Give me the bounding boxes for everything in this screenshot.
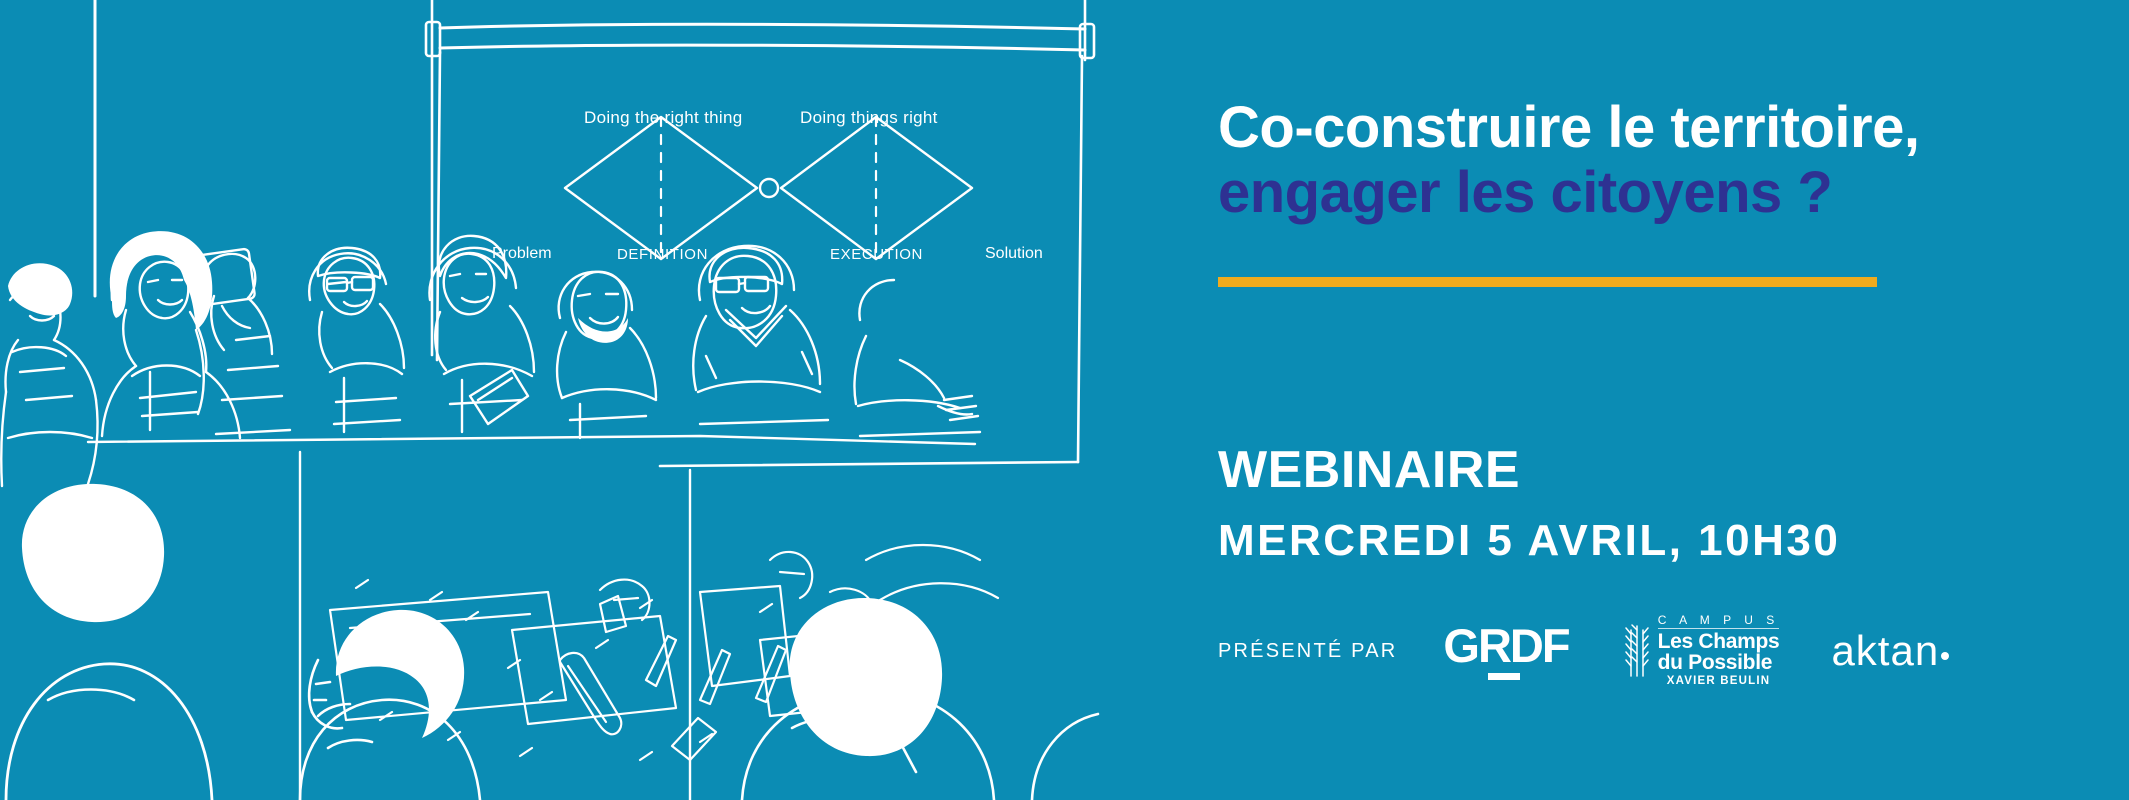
campus-line-4: XAVIER BEULIN (1658, 676, 1780, 688)
event-type-label: WEBINAIRE (1218, 444, 1978, 496)
aktan-dot-mark (1941, 652, 1949, 660)
logo-aktan: aktan (1831, 630, 1949, 672)
title-line-1: Co-construire le territoire, (1218, 96, 1978, 161)
logo-campus-les-champs-du-possible: C A M P U S Les Champs du Possible XAVIE… (1623, 614, 1780, 688)
grdf-wordmark: GRDF (1443, 622, 1568, 669)
campus-line-3: du Possible (1658, 652, 1780, 673)
page-title: Co-construire le territoire, engager les… (1218, 96, 1978, 226)
webinar-banner: Co-construire le territoire, engager les… (0, 0, 2129, 800)
sponsor-logo-row: PRÉSENTÉ PAR GRDF (1218, 616, 1978, 686)
grdf-underline-mark (1488, 673, 1520, 680)
wheat-icon (1623, 620, 1653, 683)
campus-line-2: Les Champs (1658, 631, 1780, 652)
title-line-2: engager les citoyens ? (1218, 161, 1978, 226)
presented-by-label: PRÉSENTÉ PAR (1218, 640, 1397, 663)
content-column: Co-construire le territoire, engager les… (1218, 0, 1978, 800)
illustration-svg (0, 0, 1130, 800)
campus-line-1: C A M P U S (1658, 614, 1780, 629)
logo-grdf: GRDF (1443, 622, 1568, 680)
yellow-underline-rule (1218, 277, 1877, 287)
aktan-wordmark: aktan (1831, 630, 1939, 672)
event-date-label: MERCREDI 5 AVRIL, 10H30 (1218, 519, 1978, 563)
event-details: WEBINAIRE MERCREDI 5 AVRIL, 10H30 (1218, 444, 1978, 563)
workshop-illustration (0, 0, 1130, 800)
